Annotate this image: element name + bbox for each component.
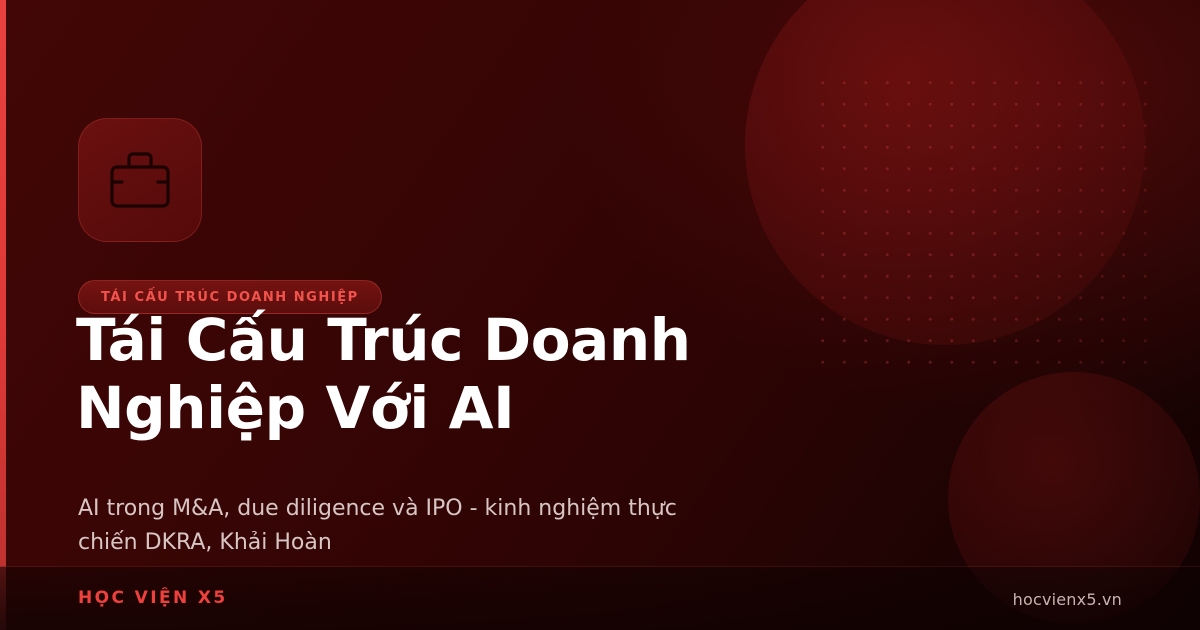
site-url: hocvienx5.vn: [1013, 590, 1122, 609]
og-card: TÁI CẤU TRÚC DOANH NGHIỆP Tái Cấu Trúc D…: [0, 0, 1200, 630]
large-red-circle: [745, 0, 1145, 345]
page-title: Tái Cấu Trúc Doanh Nghiệp Với AI: [76, 306, 776, 442]
briefcase-icon-tile: [78, 118, 202, 242]
page-subtitle: AI trong M&A, due diligence và IPO - kin…: [78, 492, 718, 560]
left-edge-accent-bar: [0, 0, 6, 566]
briefcase-icon: [109, 151, 171, 209]
dot-grid-pattern: [812, 72, 1152, 372]
brand-name: HỌC VIỆN X5: [78, 588, 228, 608]
